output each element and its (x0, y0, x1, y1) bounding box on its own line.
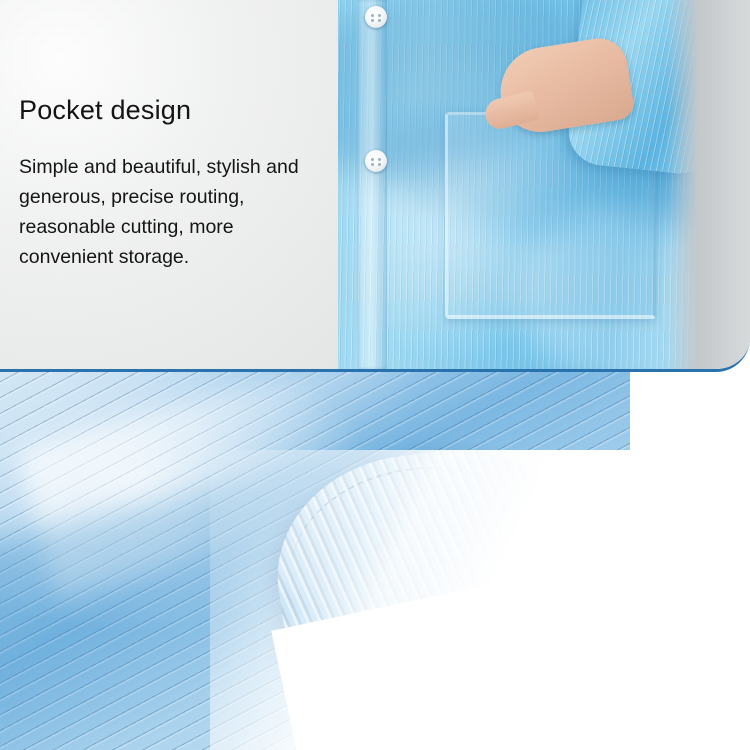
pocket-design-heading: Pocket design (19, 95, 191, 126)
pocket-design-body: Simple and beautiful, stylish and genero… (19, 152, 331, 272)
white-button-lower (365, 150, 387, 172)
button-placket (357, 0, 387, 369)
grey-studio-backdrop (666, 0, 750, 369)
product-feature-image: Pocket design Simple and beautiful, styl… (0, 0, 750, 750)
white-button-upper (365, 6, 387, 28)
pocket-design-panel: Pocket design Simple and beautiful, styl… (0, 0, 750, 372)
trousers-design-panel: Trousers design The elastic closing desi… (0, 372, 750, 750)
shirt-pocket-photo (325, 0, 750, 369)
trouser-cuff-photo (0, 372, 630, 750)
